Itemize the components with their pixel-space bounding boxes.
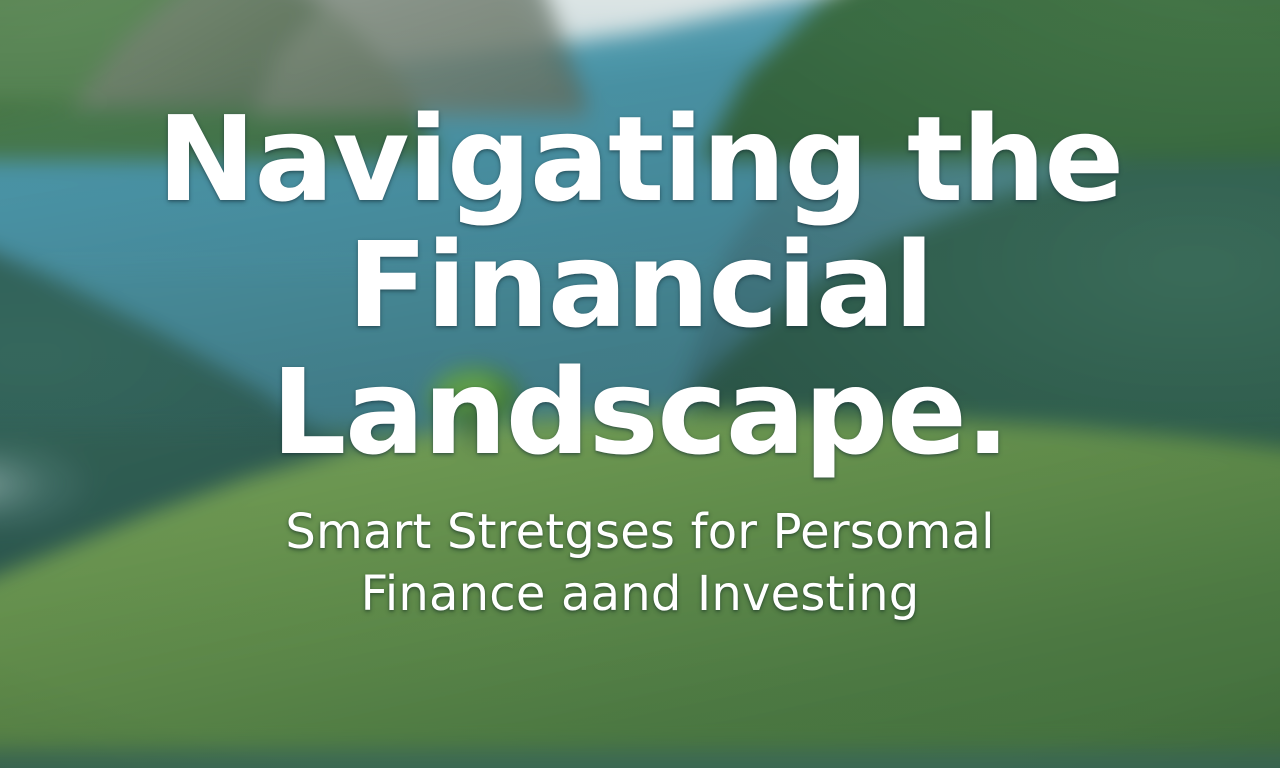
page-subtitle-line-1: Smart Stretgses for Persomal [285, 501, 994, 563]
page-title-line-1: Navigating the [157, 96, 1123, 222]
page-subtitle-line-2: Finance aand Investing [285, 563, 994, 625]
page-title-line-2: Financial [157, 222, 1123, 348]
poster-canvas: Navigating the Financial Landscape. Smar… [0, 0, 1280, 768]
text-overlay: Navigating the Financial Landscape. Smar… [0, 0, 1280, 768]
page-title: Navigating the Financial Landscape. [157, 96, 1123, 475]
page-title-line-3: Landscape. [157, 349, 1123, 475]
page-subtitle: Smart Stretgses for Persomal Finance aan… [285, 501, 994, 626]
